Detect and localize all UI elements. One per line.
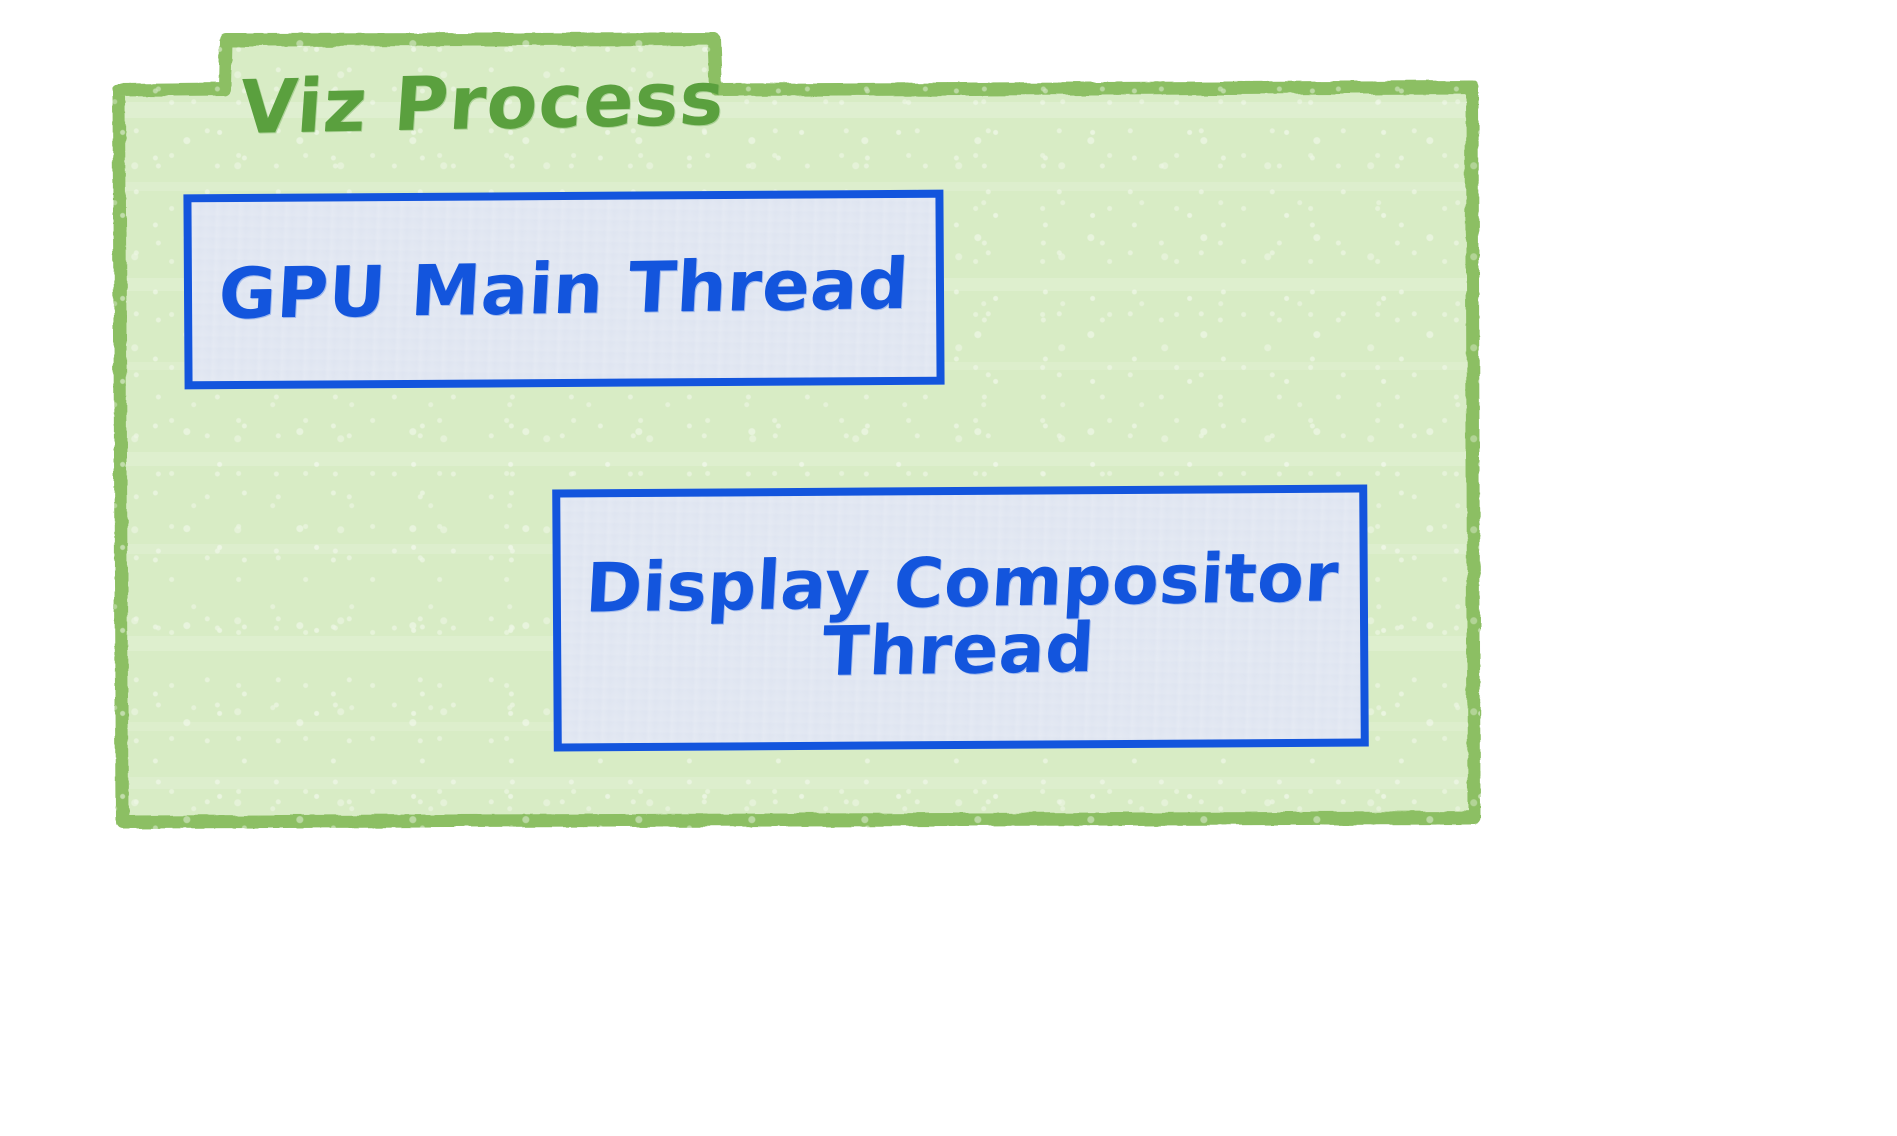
diagram-canvas: Viz Process GPU Main Thread Display Comp…	[0, 0, 1897, 1136]
viz-process-container[interactable]: Viz Process GPU Main Thread Display Comp…	[110, 32, 1480, 832]
thread-label-display-compositor-thread: Display Compositor Thread	[580, 546, 1340, 690]
process-title: Viz Process	[237, 54, 763, 152]
thread-box-display-compositor-thread[interactable]: Display Compositor Thread	[552, 485, 1369, 752]
thread-box-gpu-main-thread[interactable]: GPU Main Thread	[183, 190, 944, 390]
thread-label-gpu-main-thread: GPU Main Thread	[217, 250, 911, 329]
